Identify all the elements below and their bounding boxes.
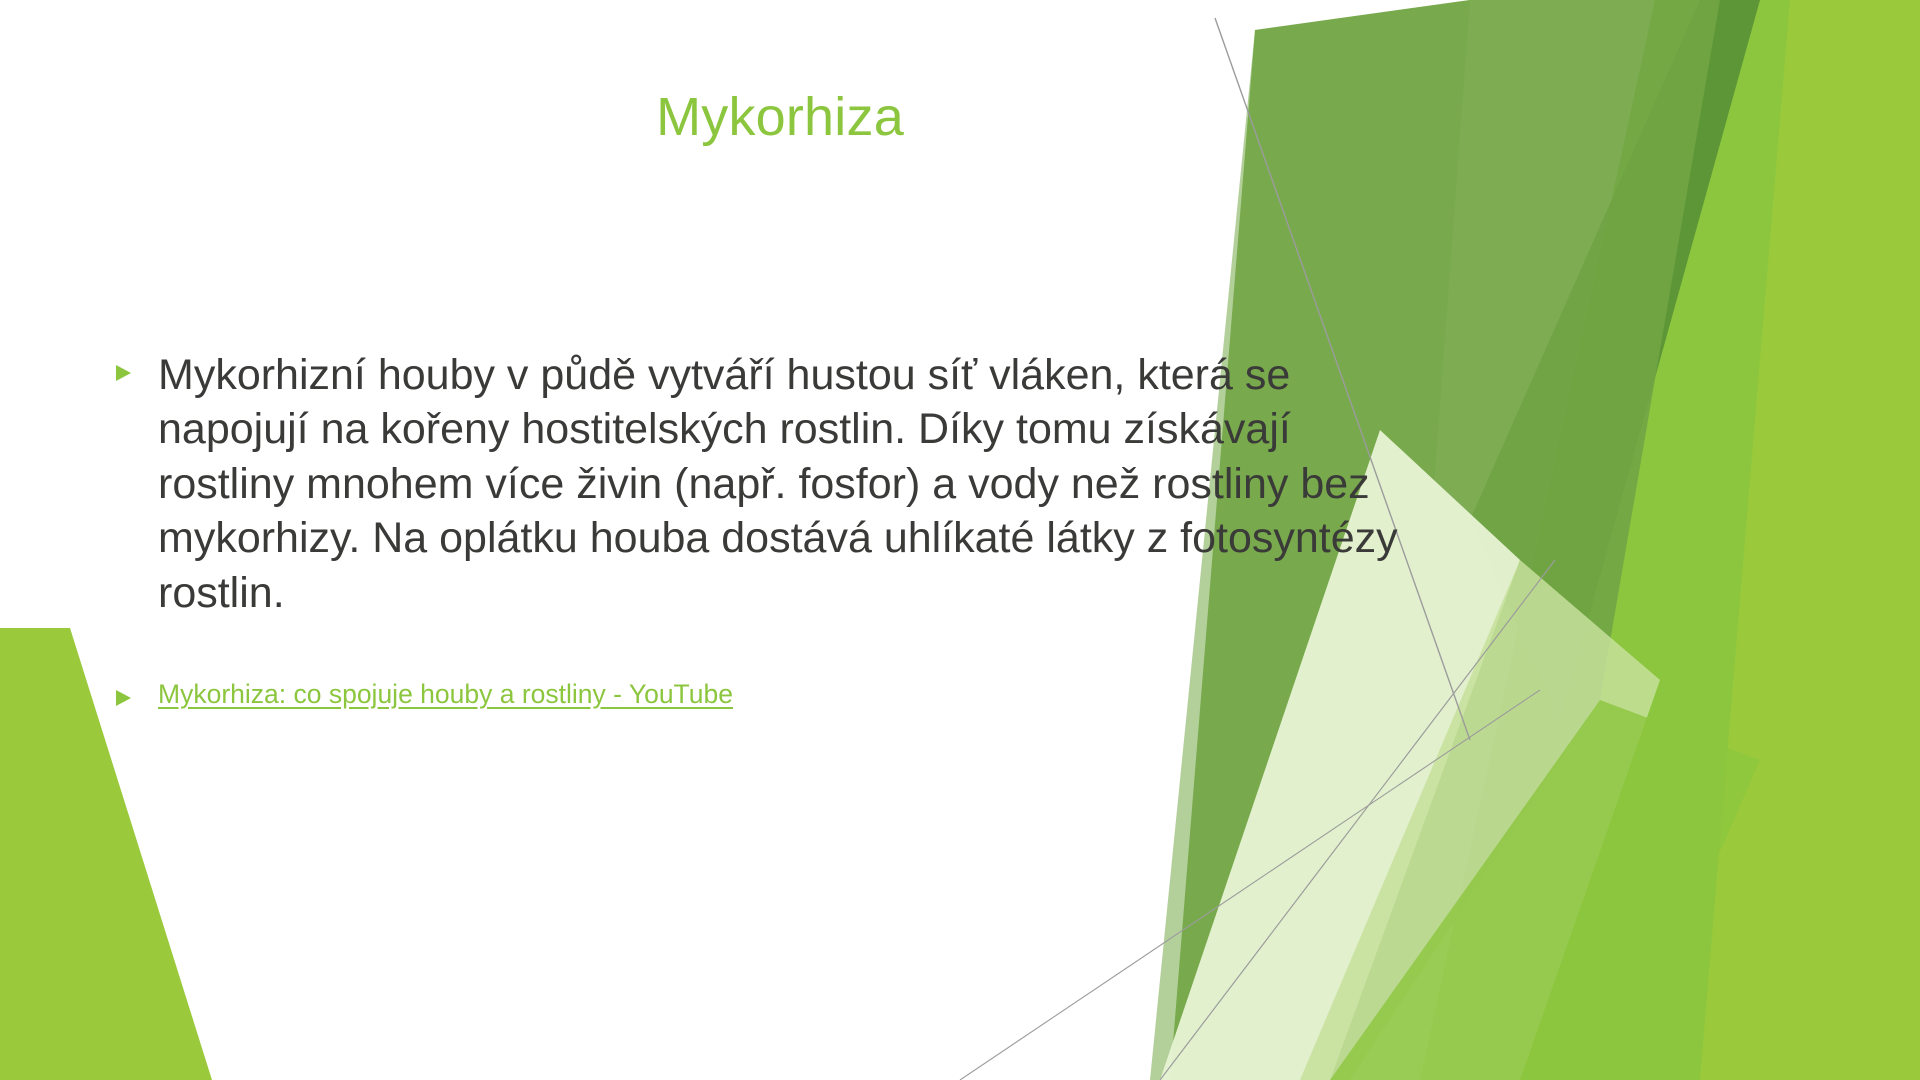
bullet-link-wrapper: Mykorhiza: co spojuje houby a rostliny -… — [158, 678, 1410, 711]
decor-shape-right-wedge — [1520, 0, 1920, 1080]
bullet-paragraph-text: Mykorhizní houby v půdě vytváří hustou s… — [158, 351, 1398, 617]
youtube-hyperlink[interactable]: Mykorhiza: co spojuje houby a rostliny -… — [158, 678, 733, 711]
slide-body: Mykorhizní houby v půdě vytváří hustou s… — [100, 348, 1410, 711]
bullet-item-paragraph: Mykorhizní houby v půdě vytváří hustou s… — [100, 348, 1410, 620]
bullet-paragraph-text-wrapper: Mykorhizní houby v půdě vytváří hustou s… — [158, 348, 1410, 620]
decor-hairline-diagonal-b — [960, 690, 1540, 1080]
slide-canvas: Mykorhiza Mykorhizní houby v půdě vytvář… — [0, 0, 1920, 1080]
triangle-bullet-icon — [100, 678, 158, 694]
bullet-item-link[interactable]: Mykorhiza: co spojuje houby a rostliny -… — [100, 678, 1410, 711]
decor-shape-mid-green — [1420, 0, 1790, 1080]
slide-title: Mykorhiza — [0, 88, 1560, 147]
triangle-bullet-icon — [100, 348, 158, 364]
decor-shape-right-band — [1640, 0, 1920, 1080]
decor-shape-mid-green-lower — [1330, 700, 1760, 1080]
